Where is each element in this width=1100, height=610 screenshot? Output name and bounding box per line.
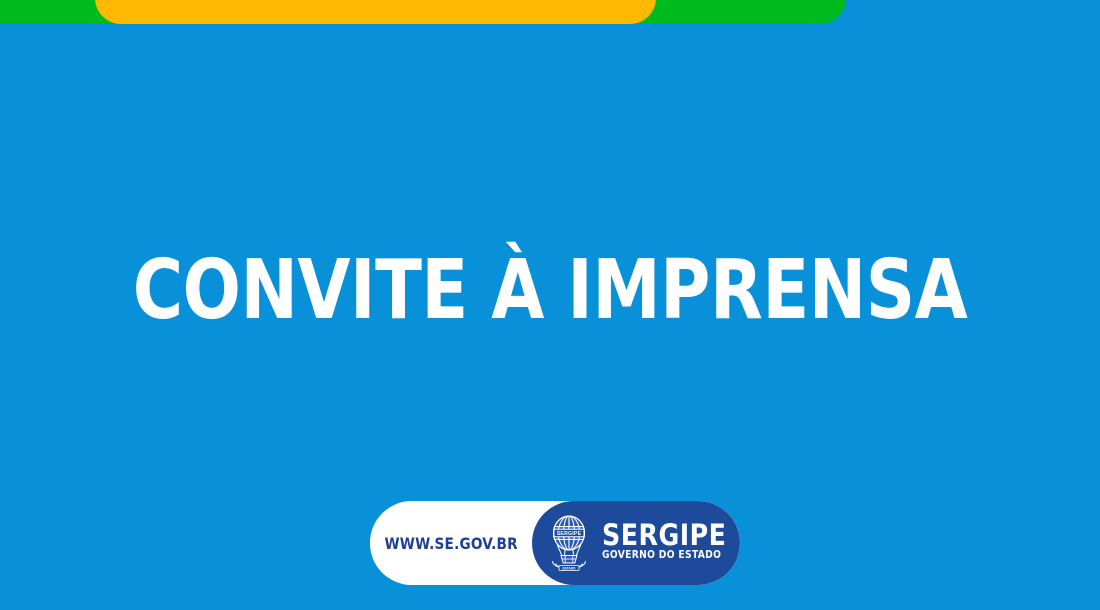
- press-invitation-slide: CONVITE À IMPRENSA WWW.SE.GOV.BR: [0, 0, 1100, 610]
- page-title: CONVITE À IMPRENSA: [39, 243, 1062, 339]
- sergipe-coat-of-arms-balloon-icon: SERGIPE: [546, 511, 592, 575]
- svg-text:ESTADO: ESTADO: [562, 566, 576, 570]
- brand-lockup: SERGIPE GOVERNO DO ESTADO: [602, 522, 730, 564]
- emblem-banner: SERGIPE: [554, 529, 584, 537]
- yellow-bar: [95, 0, 656, 24]
- website-panel: WWW.SE.GOV.BR: [370, 501, 532, 585]
- top-decorative-bars: [0, 0, 1100, 26]
- brand-subtitle: GOVERNO DO ESTADO: [602, 549, 726, 562]
- footer-badge: WWW.SE.GOV.BR: [370, 501, 740, 585]
- government-brand-panel: SERGIPE: [532, 501, 740, 585]
- website-url-label[interactable]: WWW.SE.GOV.BR: [384, 534, 517, 553]
- brand-name: SERGIPE: [602, 522, 726, 549]
- svg-text:SERGIPE: SERGIPE: [557, 531, 582, 537]
